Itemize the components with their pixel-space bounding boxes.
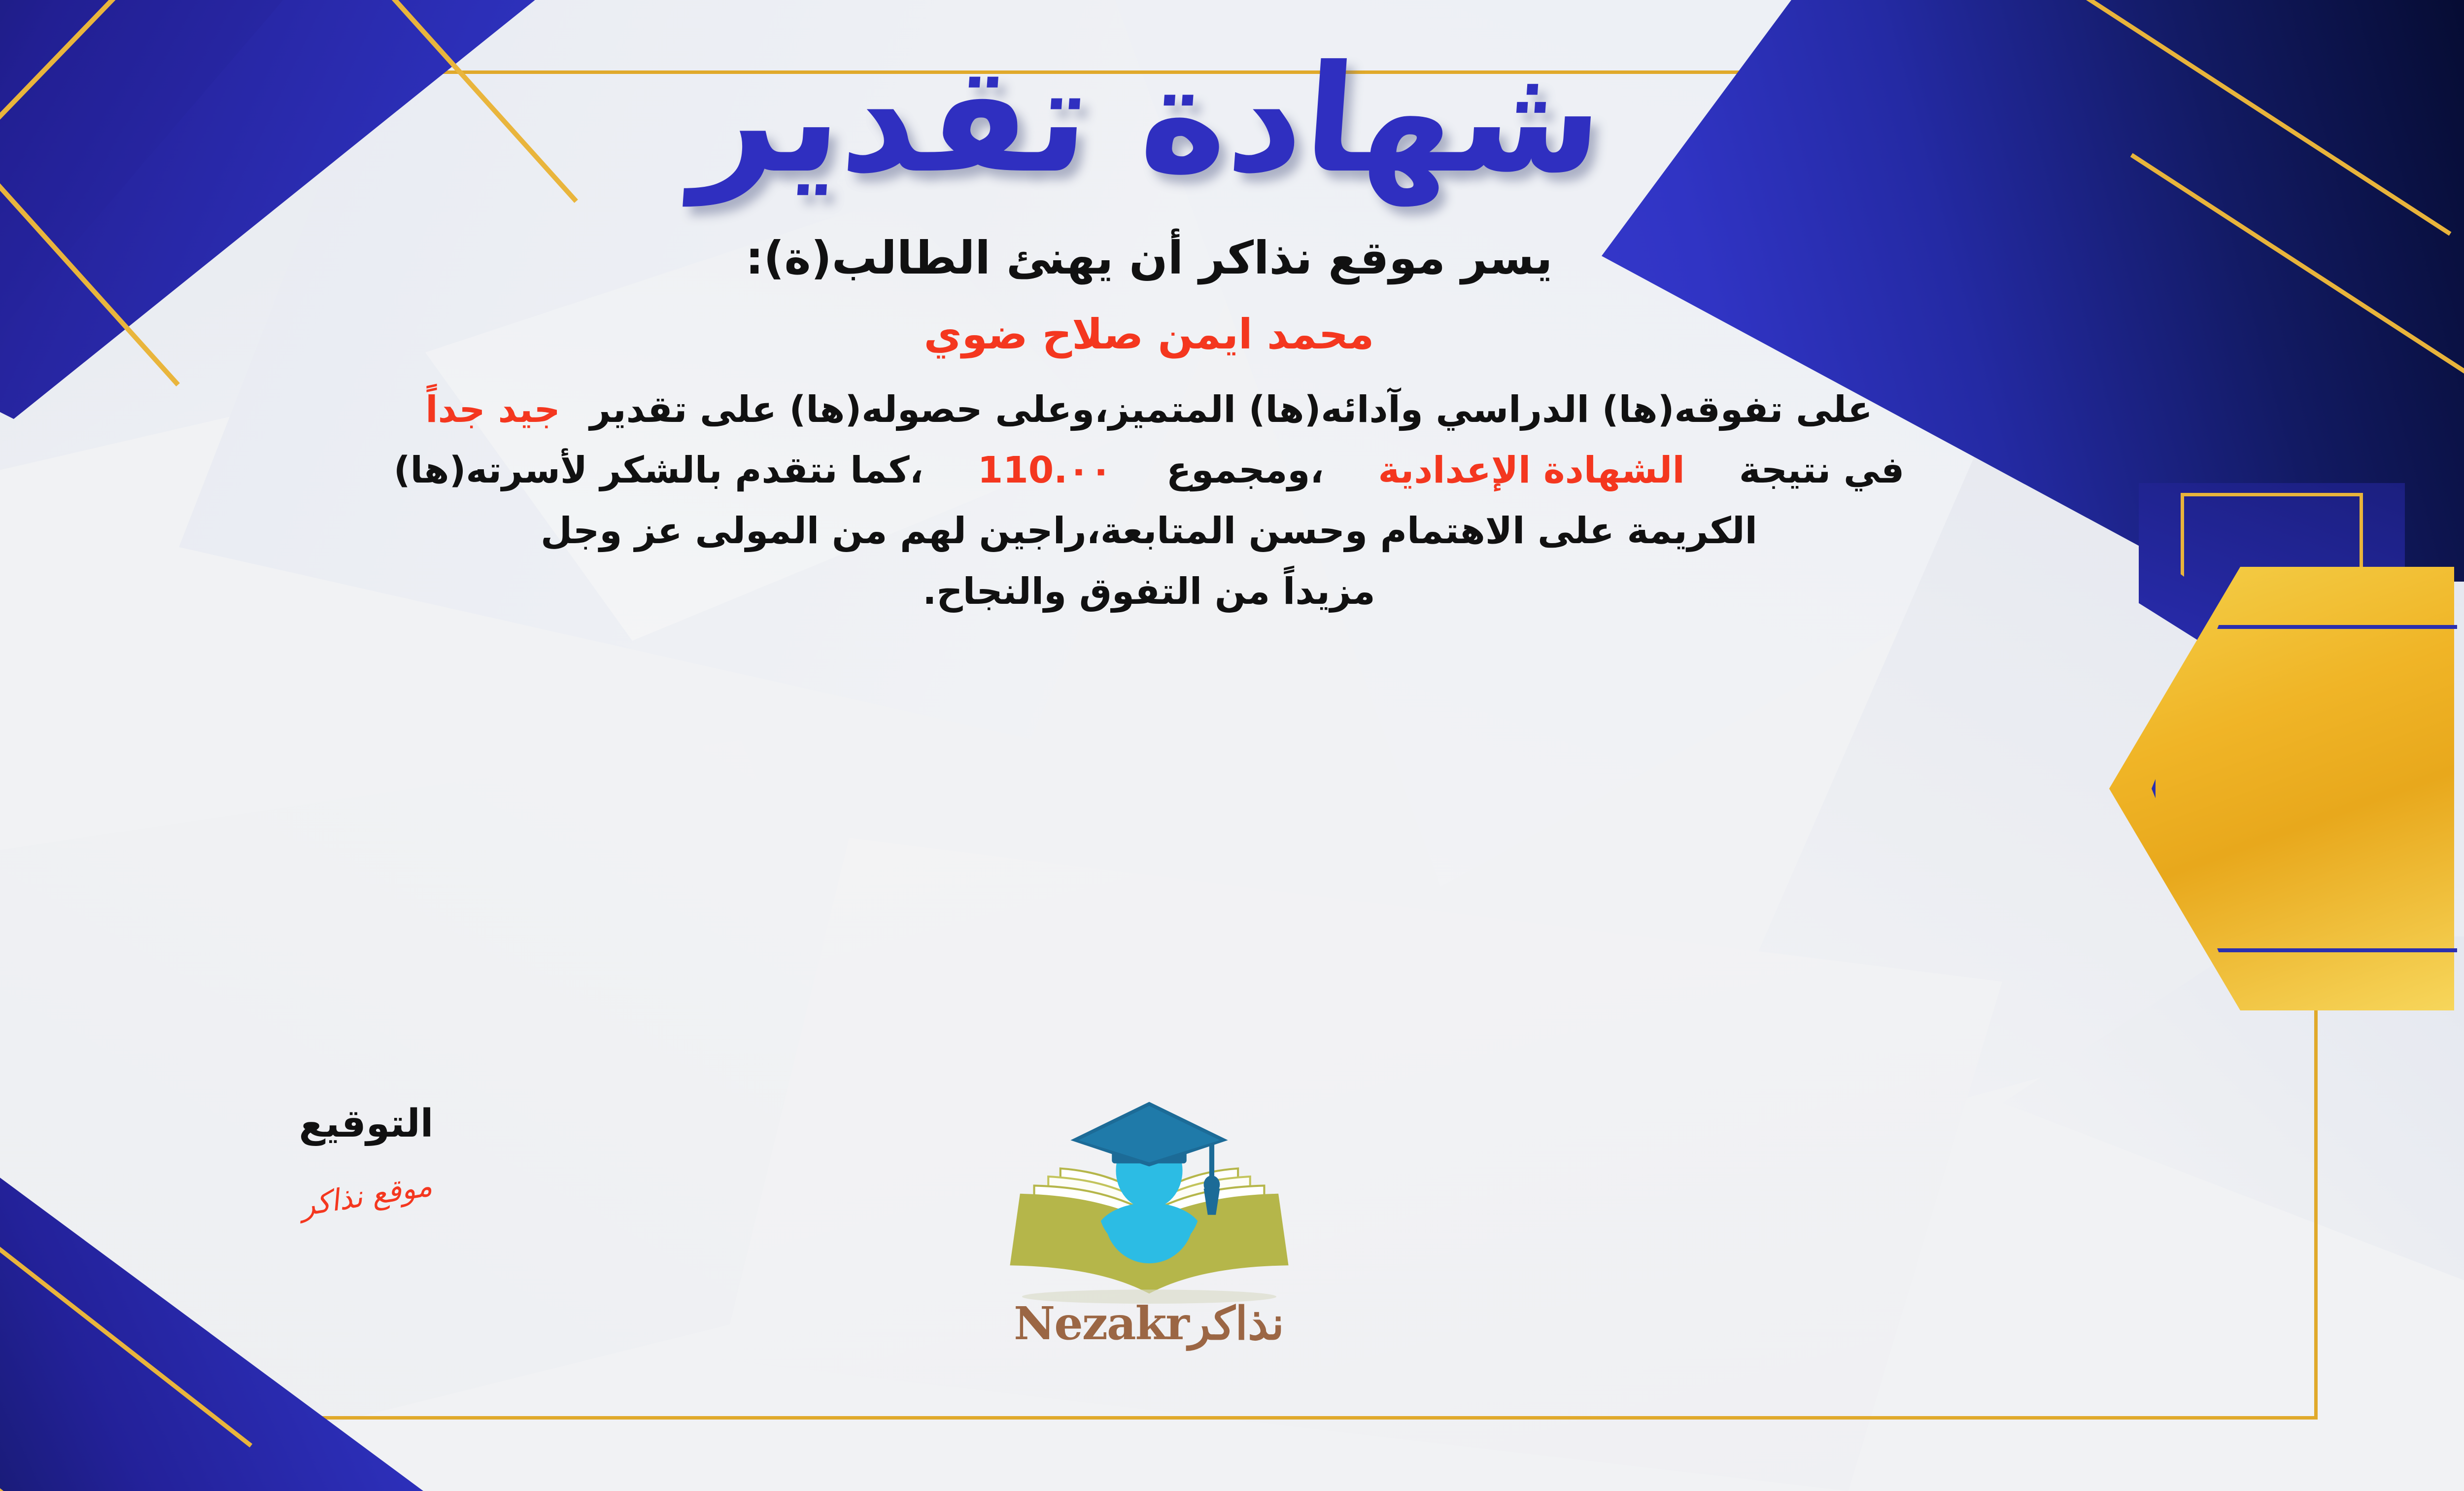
body-line-1: على تفوقه(ها) الدراسي وآدائه(ها) المتميز… <box>0 381 2307 439</box>
student-name: محمد ايمن صلاح ضوي <box>924 310 1374 358</box>
body-line-3: الكريمة على الاهتمام وحسن المتابعة،راجين… <box>0 502 2307 560</box>
certificate-page: شهادة تقدير يسر موقع نذاكر أن يهنئ الطال… <box>0 0 2464 1491</box>
graduate-book-icon <box>947 1092 1351 1304</box>
brand-logo: Nezakrنذاكر <box>947 1092 1351 1350</box>
logo-text-en: Nezakr <box>1014 1297 1189 1350</box>
logo-text-ar: نذاكر <box>1189 1297 1284 1350</box>
body-line-4: مزيداً من التفوق والنجاح. <box>0 563 2307 621</box>
body-line-2: في نتيجةالشهادة الإعدادية،ومجموع110.٠٠،ك… <box>0 442 2307 499</box>
certificate-footer: التوقيع موقع نذاكر <box>0 1102 2464 1417</box>
greeting-line: يسر موقع نذاكر أن يهنئ الطالب(ة): <box>746 232 1553 284</box>
signature-label: التوقيع <box>208 1102 524 1146</box>
logo-wordmark: Nezakrنذاكر <box>947 1297 1351 1350</box>
exam-name: الشهادة الإعدادية <box>1378 449 1685 491</box>
signature-handwriting: موقع نذاكر <box>207 1154 524 1237</box>
signature-block: التوقيع موقع نذاكر <box>208 1102 524 1213</box>
body-text-achievement: على تفوقه(ها) الدراسي وآدائه(ها) المتميز… <box>590 388 1873 431</box>
body-text-thanks: ،كما نتقدم بالشكر لأسرته(ها) <box>394 449 924 491</box>
certificate-body: على تفوقه(ها) الدراسي وآدائه(ها) المتميز… <box>0 381 2307 621</box>
body-text-total-label: ،ومجموع <box>1166 449 1324 491</box>
certificate-title: شهادة تقدير <box>688 27 1609 212</box>
total-score-value: 110.٠٠ <box>978 449 1112 491</box>
grade-value: جيد جداً <box>425 388 560 431</box>
body-text-result-prefix: في نتيجة <box>1739 449 1905 491</box>
